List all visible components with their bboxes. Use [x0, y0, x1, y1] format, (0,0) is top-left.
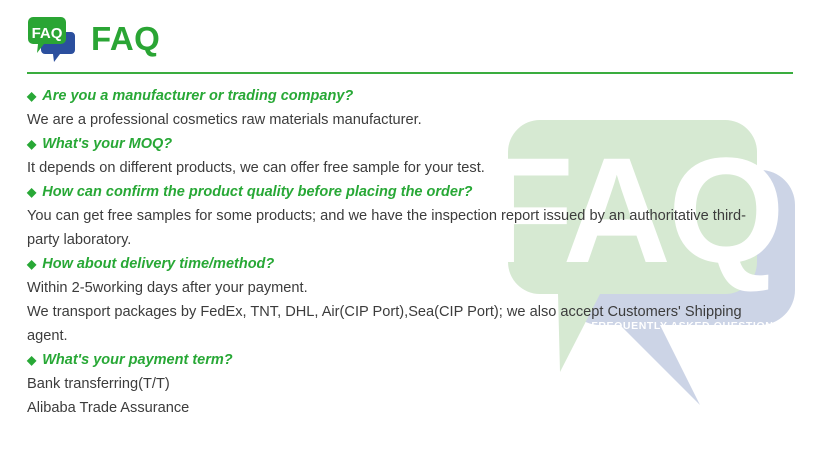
faq-question-text: What's your MOQ?: [42, 132, 172, 156]
faq-question[interactable]: ◆How about delivery time/method?: [27, 252, 797, 276]
faq-question[interactable]: ◆How can confirm the product quality bef…: [27, 180, 797, 204]
header-divider: [27, 72, 793, 74]
faq-question-text: How can confirm the product quality befo…: [42, 180, 472, 204]
faq-answer: You can get free samples for some produc…: [27, 204, 767, 252]
faq-answer: We transport packages by FedEx, TNT, DHL…: [27, 300, 767, 348]
faq-item: ◆How about delivery time/method?Within 2…: [27, 252, 797, 348]
faq-answer: It depends on different products, we can…: [27, 156, 767, 180]
faq-answer: Alibaba Trade Assurance: [27, 396, 767, 420]
faq-answer: Bank transferring(T/T): [27, 372, 767, 396]
faq-question[interactable]: ◆What's your payment term?: [27, 348, 797, 372]
diamond-bullet-icon: ◆: [27, 348, 36, 372]
faq-question-text: Are you a manufacturer or trading compan…: [42, 84, 353, 108]
logo-text: FAQ: [32, 25, 63, 42]
faq-item: ◆How can confirm the product quality bef…: [27, 180, 797, 252]
faq-list: ◆Are you a manufacturer or trading compa…: [27, 84, 797, 420]
faq-question-text: What's your payment term?: [42, 348, 232, 372]
faq-question[interactable]: ◆What's your MOQ?: [27, 132, 797, 156]
faq-logo: FAQ: [27, 14, 77, 62]
diamond-bullet-icon: ◆: [27, 180, 36, 204]
page-title: FAQ: [91, 22, 160, 55]
page-header: FAQ FAQ: [27, 14, 160, 62]
diamond-bullet-icon: ◆: [27, 252, 36, 276]
faq-question-text: How about delivery time/method?: [42, 252, 274, 276]
diamond-bullet-icon: ◆: [27, 84, 36, 108]
diamond-bullet-icon: ◆: [27, 132, 36, 156]
faq-item: ◆Are you a manufacturer or trading compa…: [27, 84, 797, 132]
faq-answer: Within 2-5working days after your paymen…: [27, 276, 767, 300]
faq-answer: We are a professional cosmetics raw mate…: [27, 108, 767, 132]
faq-item: ◆What's your payment term?Bank transferr…: [27, 348, 797, 420]
faq-item: ◆What's your MOQ?It depends on different…: [27, 132, 797, 180]
faq-question[interactable]: ◆Are you a manufacturer or trading compa…: [27, 84, 797, 108]
